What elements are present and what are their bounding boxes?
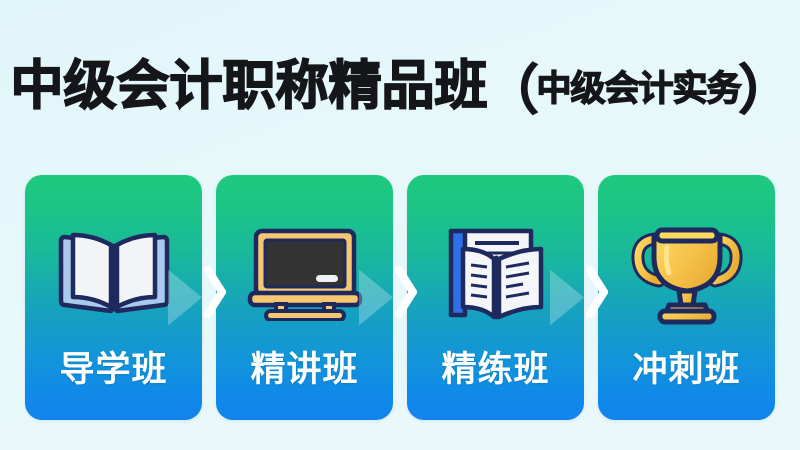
open-book-icon [25, 217, 202, 329]
stage-card-label: 冲刺班 [598, 341, 775, 392]
stage-card-daoxueban[interactable]: 导学班 [25, 175, 202, 420]
stage-card-label: 精讲班 [216, 341, 393, 392]
blackboard-icon [216, 217, 393, 329]
stage-card-chongciban[interactable]: 冲刺班 [598, 175, 775, 420]
workbook-icon [407, 217, 584, 329]
stage-card-label: 精练班 [407, 341, 584, 392]
stage-cards-row: 导学班 [25, 175, 775, 420]
title-subtitle-text: 中级会计实务 [536, 70, 740, 110]
title-paren-open: （ [485, 60, 538, 121]
title-paren-close: ） [739, 60, 792, 121]
stage-card-jingjiangban[interactable]: 精讲班 [216, 175, 393, 420]
trophy-icon [598, 217, 775, 329]
stage-card-jinglianban[interactable]: 精练班 [407, 175, 584, 420]
page-title: 中级会计职称精品班（中级会计实务） [0, 48, 800, 124]
stage-card-label: 导学班 [25, 341, 202, 392]
course-stages-poster: 中级会计职称精品班（中级会计实务） 导学班 [0, 0, 800, 450]
title-main-text: 中级会计职称精品班 [10, 56, 487, 117]
